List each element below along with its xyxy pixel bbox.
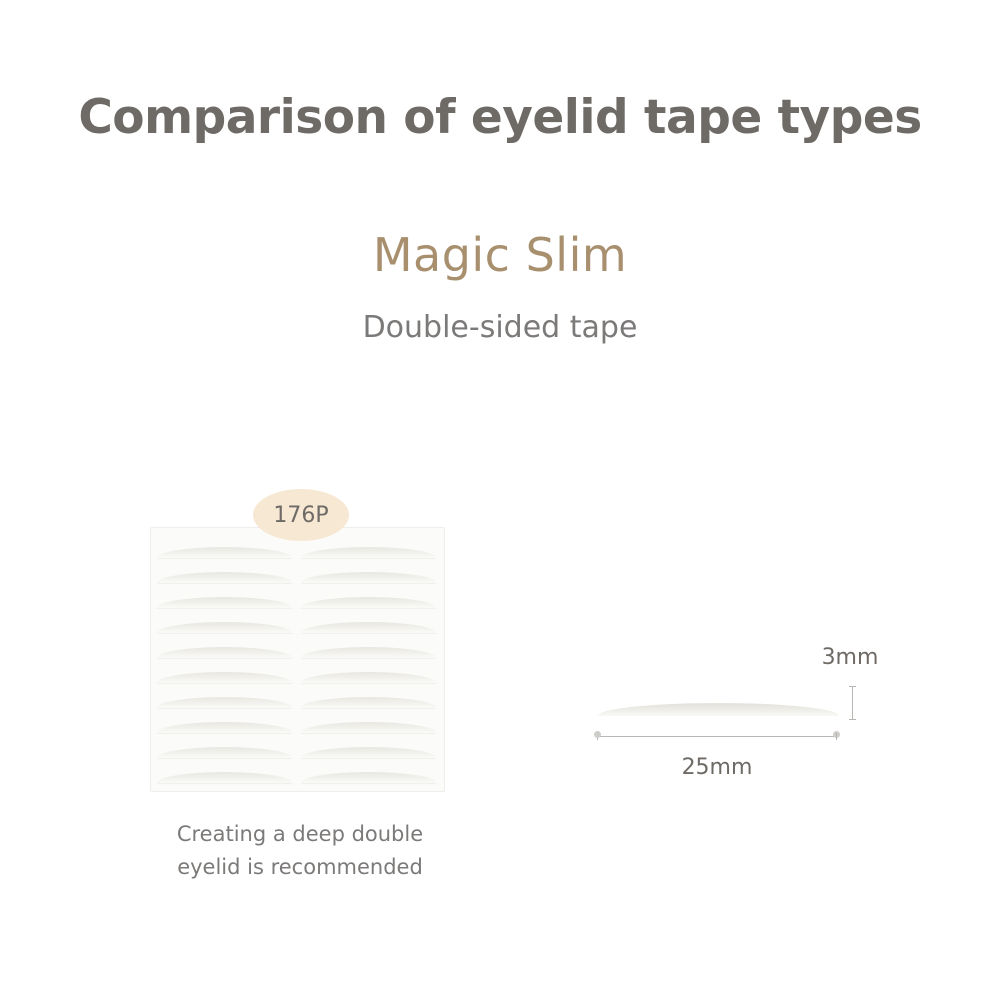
tape-strip: [157, 661, 292, 678]
tape-strip: [301, 686, 436, 703]
sheet-caption-line-2: eyelid is recommended: [130, 851, 470, 884]
tape-strip: [157, 611, 292, 628]
product-info-page: Comparison of eyelid tape types Magic Sl…: [0, 0, 1000, 1000]
tape-strip: [301, 661, 436, 678]
tape-strip-arc: [301, 536, 436, 558]
tape-strip: [157, 711, 292, 728]
tape-strip-arc: [301, 661, 436, 683]
tape-strip-arc: [157, 536, 292, 558]
tape-strip: [301, 711, 436, 728]
tape-strip-arc: [157, 761, 292, 783]
tape-strip-arc: [157, 736, 292, 758]
tape-column-left: [157, 536, 292, 786]
tape-strip: [301, 611, 436, 628]
tape-strip: [301, 636, 436, 653]
tape-strip-arc: [301, 586, 436, 608]
single-tape-illustration: [597, 690, 840, 716]
page-title: Comparison of eyelid tape types: [0, 90, 1000, 145]
tape-strip-arc: [301, 686, 436, 708]
width-dimension-label: 25mm: [597, 755, 837, 780]
tape-strip: [301, 586, 436, 603]
width-dimension-line: [597, 736, 837, 737]
tape-strip-arc: [157, 636, 292, 658]
height-dimension-label: 3mm: [790, 645, 910, 670]
tape-strip: [301, 761, 436, 778]
tape-strip-arc: [301, 561, 436, 583]
dimension-endpoint-right: [833, 731, 840, 738]
product-subtitle: Double-sided tape: [0, 310, 1000, 345]
tape-strip: [301, 561, 436, 578]
tape-strip: [301, 736, 436, 753]
tape-strip-arc: [157, 611, 292, 633]
single-tape-body: [597, 690, 840, 716]
dimension-endpoint-left: [594, 731, 601, 738]
product-name: Magic Slim: [0, 228, 1000, 282]
tape-strip-arc: [301, 736, 436, 758]
tape-strip: [157, 736, 292, 753]
tape-strip: [157, 686, 292, 703]
tape-strip: [157, 536, 292, 553]
tape-strip-arc: [301, 611, 436, 633]
tape-strip: [157, 561, 292, 578]
tape-strip-arc: [301, 761, 436, 783]
tape-strip-arc: [157, 586, 292, 608]
sheet-caption-line-1: Creating a deep double: [130, 818, 470, 851]
tape-strip-arc: [157, 661, 292, 683]
tape-strip-arc: [157, 686, 292, 708]
tape-strip-arc: [301, 711, 436, 733]
tape-sheet-image: [150, 527, 445, 792]
tape-strip: [157, 761, 292, 778]
height-dimension-line: [852, 686, 853, 720]
tape-strip-arc: [157, 711, 292, 733]
sheet-caption: Creating a deep double eyelid is recomme…: [130, 818, 470, 884]
tape-strip: [157, 586, 292, 603]
tape-column-right: [301, 536, 436, 786]
quantity-badge: 176P: [253, 489, 349, 541]
tape-strip-arc: [157, 561, 292, 583]
tape-sheet: [150, 527, 445, 792]
tape-strip: [157, 636, 292, 653]
tape-strip-arc: [301, 636, 436, 658]
